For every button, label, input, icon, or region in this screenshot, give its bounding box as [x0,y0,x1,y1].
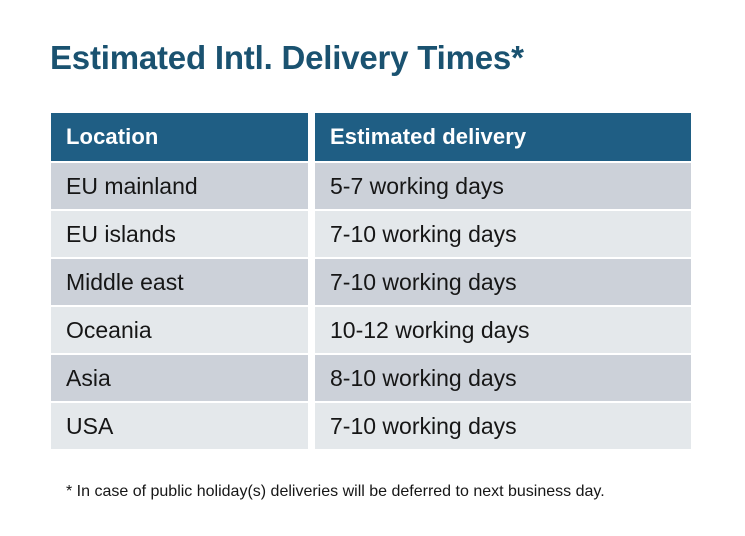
cell-delivery: 10-12 working days [315,305,691,353]
cell-location: Oceania [51,305,315,353]
table-header: Location Estimated delivery [51,113,691,161]
cell-delivery: 7-10 working days [315,209,691,257]
table-row: EU islands 7-10 working days [51,209,691,257]
table-body: EU mainland 5-7 working days EU islands … [51,161,691,449]
cell-location: EU islands [51,209,315,257]
table-row: USA 7-10 working days [51,401,691,449]
cell-location: USA [51,401,315,449]
table-header-row: Location Estimated delivery [51,113,691,161]
cell-delivery: 7-10 working days [315,257,691,305]
table-row: Asia 8-10 working days [51,353,691,401]
cell-location: Asia [51,353,315,401]
delivery-times-page: Estimated Intl. Delivery Times* Location… [0,0,745,536]
page-title: Estimated Intl. Delivery Times* [50,36,524,80]
table-row: Middle east 7-10 working days [51,257,691,305]
column-header-location: Location [51,113,315,161]
footnote-text: * In case of public holiday(s) deliverie… [66,481,605,503]
table-row: EU mainland 5-7 working days [51,161,691,209]
cell-delivery: 5-7 working days [315,161,691,209]
table-row: Oceania 10-12 working days [51,305,691,353]
column-header-estimated-delivery: Estimated delivery [315,113,691,161]
cell-location: Middle east [51,257,315,305]
cell-location: EU mainland [51,161,315,209]
cell-delivery: 8-10 working days [315,353,691,401]
cell-delivery: 7-10 working days [315,401,691,449]
delivery-times-table: Location Estimated delivery EU mainland … [51,113,691,449]
